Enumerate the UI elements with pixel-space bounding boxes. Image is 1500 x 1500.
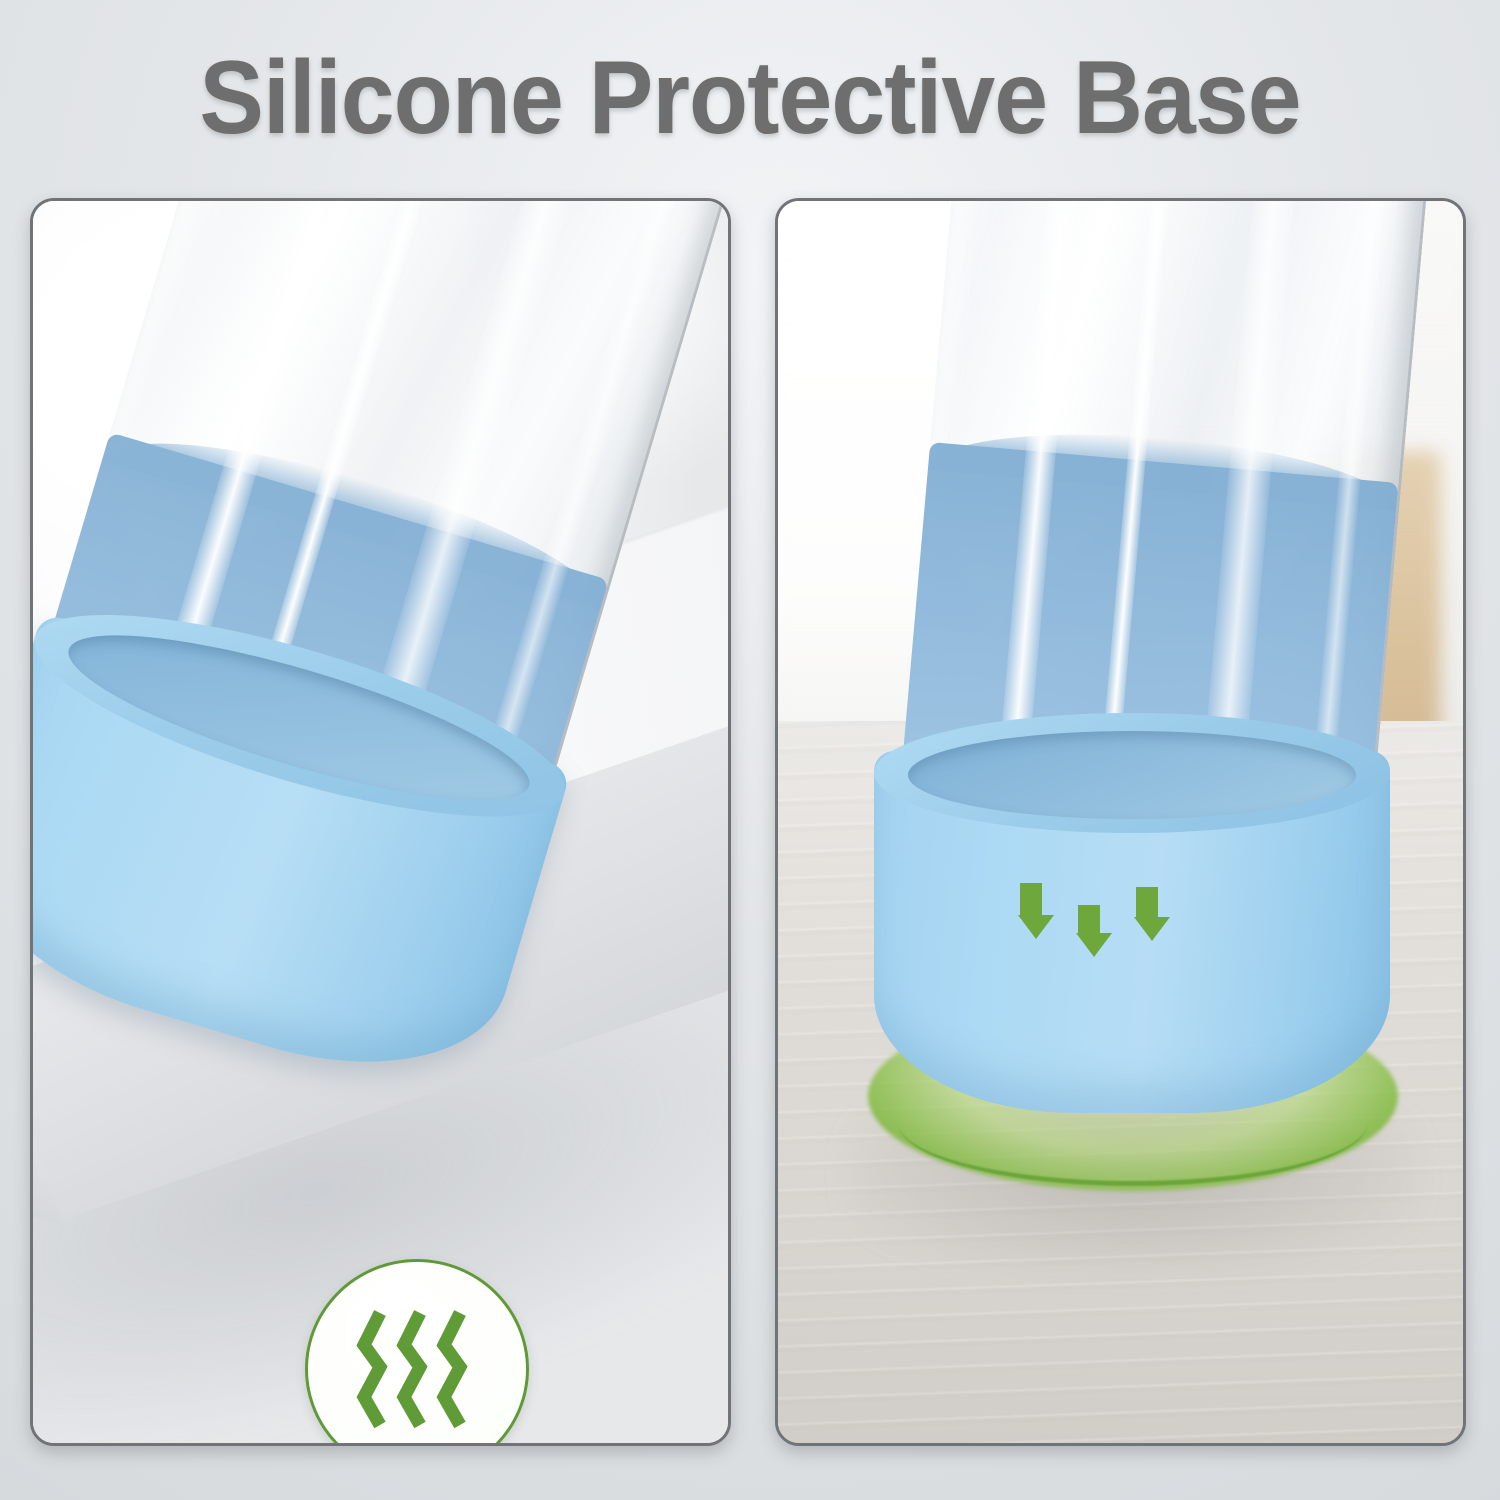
arrow-shaft — [1020, 883, 1042, 915]
arrow-head — [1018, 915, 1054, 939]
sleeve-rim-inner — [908, 731, 1356, 819]
down-arrow-icon — [1018, 883, 1044, 939]
arrow-shaft — [1078, 905, 1100, 933]
impact-arrows — [1018, 883, 1188, 975]
anti-slip-wave-icon — [354, 1305, 480, 1433]
panel-anti-impact: Anti-impact — [775, 198, 1466, 1446]
page-title: Silicone Protective Base — [53, 44, 1448, 152]
down-arrow-icon — [1076, 905, 1102, 957]
arrow-shaft — [1136, 887, 1158, 917]
arrow-head — [1076, 933, 1112, 957]
anti-slip-scene — [33, 201, 728, 1443]
sleeve-rim — [874, 713, 1390, 833]
panel-anti-slip: Anti-slip — [30, 198, 731, 1446]
arrow-head — [1134, 917, 1170, 941]
anti-impact-scene — [778, 201, 1463, 1443]
down-arrow-icon — [1134, 887, 1160, 941]
